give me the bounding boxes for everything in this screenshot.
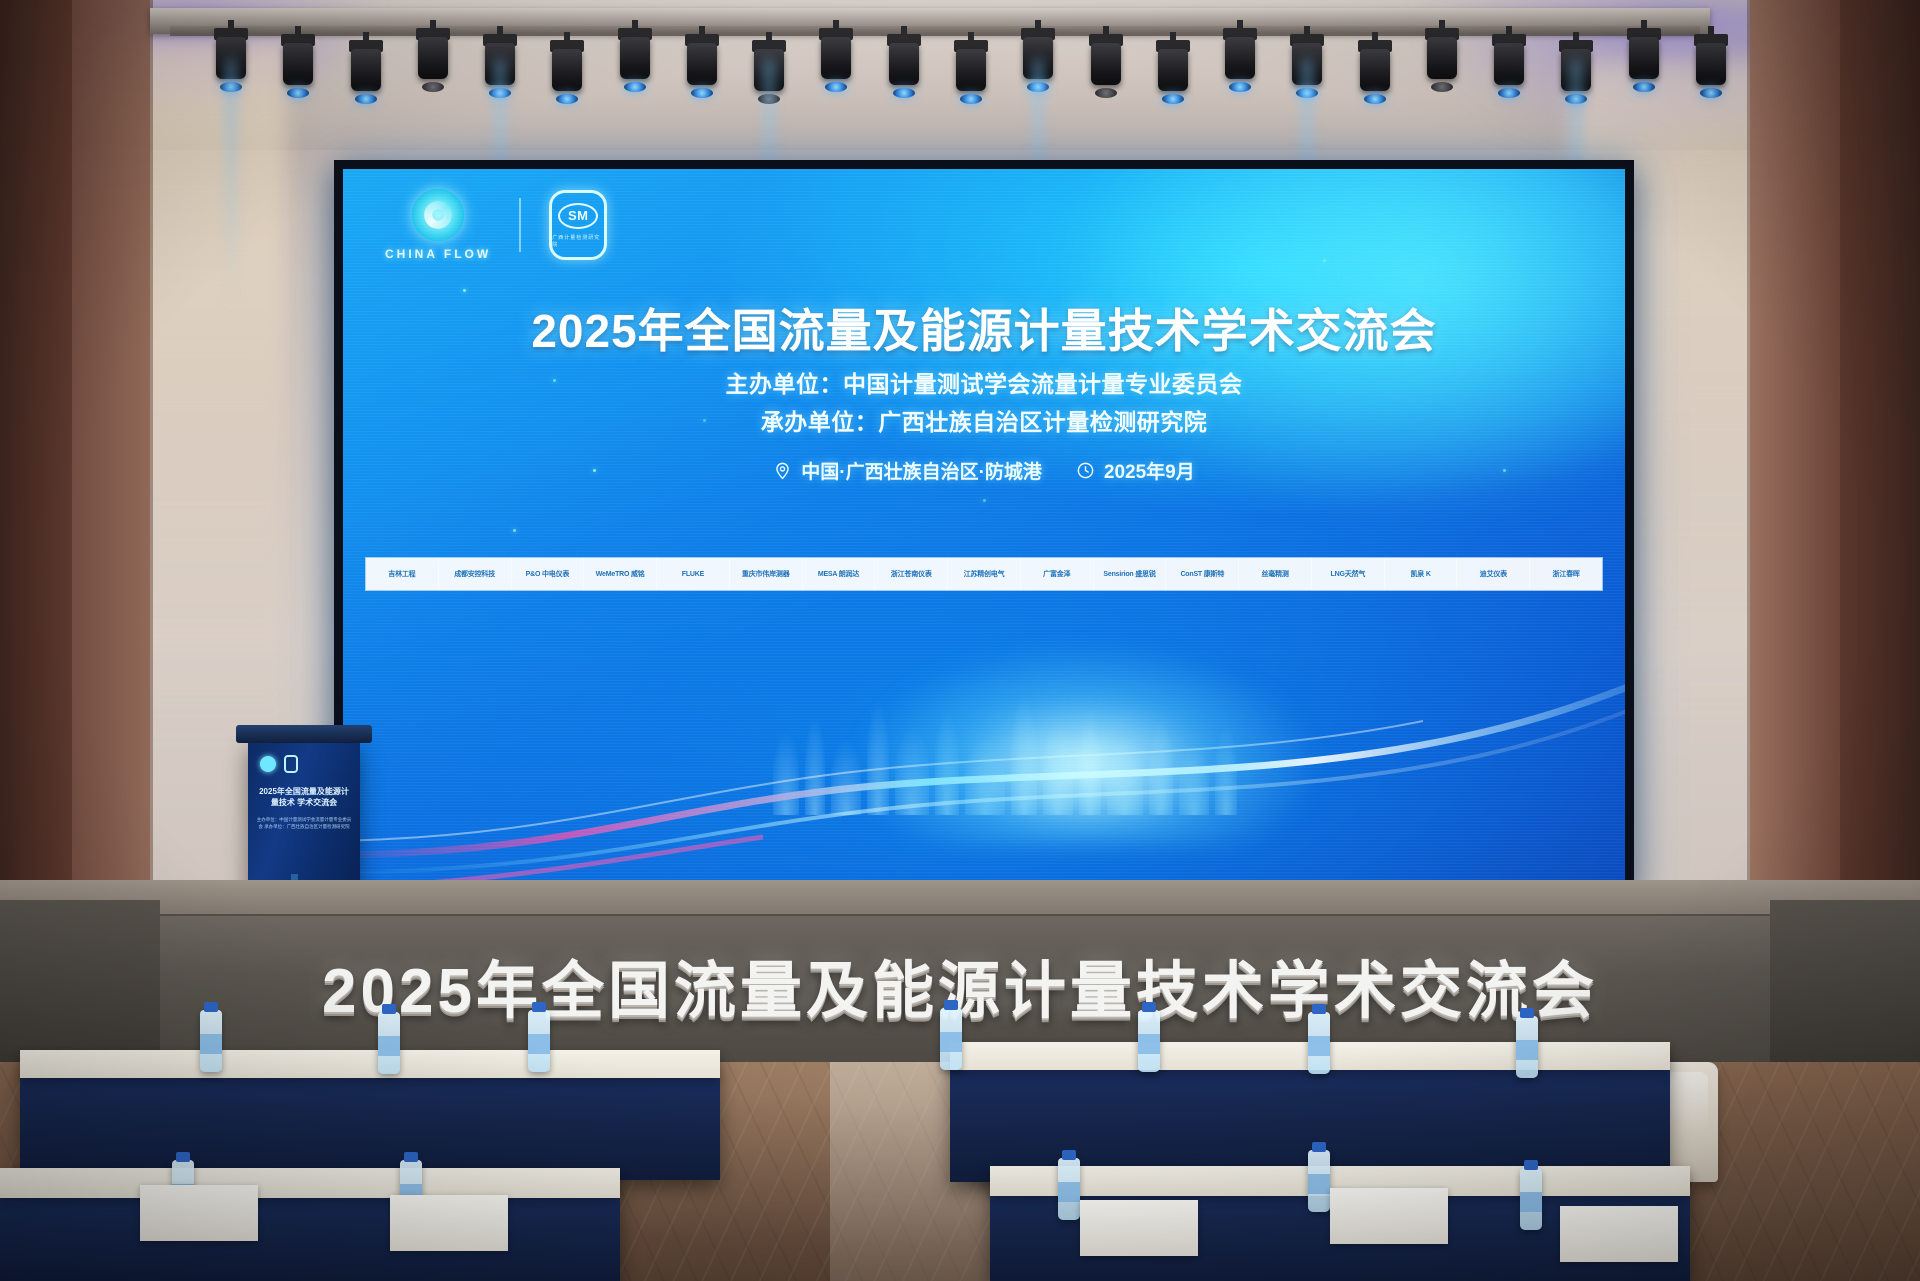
slide-host-line: 承办单位：广西壮族自治区计量检测研究院 [343,403,1625,437]
sponsor-logo-cell: MESA 朗润达 [803,558,876,590]
notepad [390,1195,508,1251]
sponsor-logo-cell: Sensirion 盛思锐 [1094,558,1167,590]
sponsor-logo-cell: WeMeTRO 威铭 [584,558,657,590]
banquet-table [20,1060,720,1180]
right-wall-edge [1840,0,1920,920]
moving-head-spotlight [1688,34,1734,100]
sponsor-logo-cell: 江苏精创电气 [948,558,1021,590]
moving-head-spotlight [746,40,792,106]
slide-location-text: 中国·广西壮族自治区·防城港 [801,457,1042,484]
sm-logo-icon: SM 广西计量检测研究院 [549,190,607,260]
moving-head-spotlight [881,34,927,100]
slide-date: 2025年9月 [1076,457,1195,484]
water-bottle [1520,1168,1542,1230]
moving-head-spotlight [1621,28,1667,94]
swirl-logo-icon [412,189,464,241]
moving-head-spotlight [1419,28,1465,94]
notepad [140,1185,258,1241]
moving-head-spotlight [1486,34,1532,100]
sponsor-logo-cell: 重庆市伟岸测器 [730,558,803,590]
table-white-topper [0,1168,620,1198]
moving-head-spotlight [208,28,254,94]
sponsor-logo-cell: 浙江苍南仪表 [875,558,948,590]
moving-head-spotlight [1284,34,1330,100]
moving-head-spotlight [343,40,389,106]
water-bottle [200,1010,222,1072]
sponsor-logo-cell: 浙江春晖 [1530,558,1602,590]
led-screen: CHINA FLOW SM 广西计量检测研究院 2025年全国流量及能源计量技术… [343,169,1625,885]
water-bottle [528,1010,550,1072]
moving-head-spotlight [1217,28,1263,94]
moving-head-spotlight [410,28,456,94]
moving-head-spotlight [679,34,725,100]
screen-logo-row: CHINA FLOW SM 广西计量检测研究院 [385,189,607,261]
sponsor-logo-cell: 凯泉 K [1385,558,1458,590]
notepad [1560,1206,1678,1262]
podium-top-surface [236,725,372,743]
podium-title: 2025年全国流量及能源计量技术 学术交流会 [256,787,352,809]
slide-meta-row: 中国·广西壮族自治区·防城港 2025年9月 [343,457,1625,484]
sm-logo-subtext: 广西计量检测研究院 [552,234,604,248]
moving-head-spotlight [477,34,523,100]
moving-head-spotlight [1150,40,1196,106]
moving-head-spotlight [948,40,994,106]
notepad [1080,1200,1198,1256]
moving-head-spotlight [813,28,859,94]
water-bottle [1138,1010,1160,1072]
sponsor-logo-cell: P&O 中电仪表 [512,558,585,590]
sponsor-logo-cell: FLUKE [657,558,730,590]
sponsor-logo-cell: LNG天然气 [1312,558,1385,590]
moving-head-spotlight [544,40,590,106]
sponsor-logo-cell: 广富金泽 [1021,558,1094,590]
podium-subtitle: 主办单位：中国计量测试学会流量计量专业委员会 承办单位：广西壮族自治区计量检测研… [256,817,352,831]
lighting-truss-lower [170,26,1700,36]
sponsor-logo-cell: 吉林工程 [366,558,439,590]
led-screen-frame: CHINA FLOW SM 广西计量检测研究院 2025年全国流量及能源计量技术… [334,160,1634,894]
clock-icon [1076,461,1095,480]
moving-head-spotlight [1015,28,1061,94]
sm-logo-text: SM [558,203,598,229]
moving-head-spotlight [612,28,658,94]
water-bottle [1516,1016,1538,1078]
china-flow-logo: CHINA FLOW [385,189,491,261]
wall-seam-left [150,0,153,880]
slide-date-text: 2025年9月 [1104,457,1195,484]
water-bottle [1308,1150,1330,1212]
logo-divider [519,198,521,252]
water-bottle [940,1008,962,1070]
moving-head-spotlight [1083,34,1129,100]
location-pin-icon [773,461,792,480]
water-bottle [1308,1012,1330,1074]
china-flow-logo-text: CHINA FLOW [385,247,491,261]
wall-seam-right [1747,0,1750,900]
podium-sm-logo-icon [284,755,298,773]
moving-head-spotlight [275,34,321,100]
water-bottle [1058,1158,1080,1220]
stage-deck [0,880,1920,916]
slide-organizer-line: 主办单位：中国计量测试学会流量计量专业委员会 [343,365,1625,399]
slide-title: 2025年全国流量及能源计量技术学术交流会 [343,295,1625,361]
moving-head-spotlight [1553,40,1599,106]
sponsor-logo-cell: 迪艾仪表 [1457,558,1530,590]
slide-location: 中国·广西壮族自治区·防城港 [773,457,1042,484]
sponsor-logo-cell: 成都安控科技 [439,558,512,590]
water-bottle [378,1012,400,1074]
podium-swirl-logo-icon [260,756,276,772]
notepad [1330,1188,1448,1244]
sponsor-logo-strip: 吉林工程成都安控科技P&O 中电仪表WeMeTRO 威铭FLUKE重庆市伟岸测器… [365,557,1603,591]
table-white-topper [20,1050,720,1078]
screen-light-bloom [856,645,1316,845]
left-wall-edge [0,0,72,900]
sponsor-logo-cell: 丝毫精测 [1239,558,1312,590]
podium-logo-row [260,755,298,773]
conference-hall-photo: CHINA FLOW SM 广西计量检测研究院 2025年全国流量及能源计量技术… [0,0,1920,1281]
sponsor-logo-cell: ConST 康斯特 [1166,558,1239,590]
moving-head-spotlight [1352,40,1398,106]
